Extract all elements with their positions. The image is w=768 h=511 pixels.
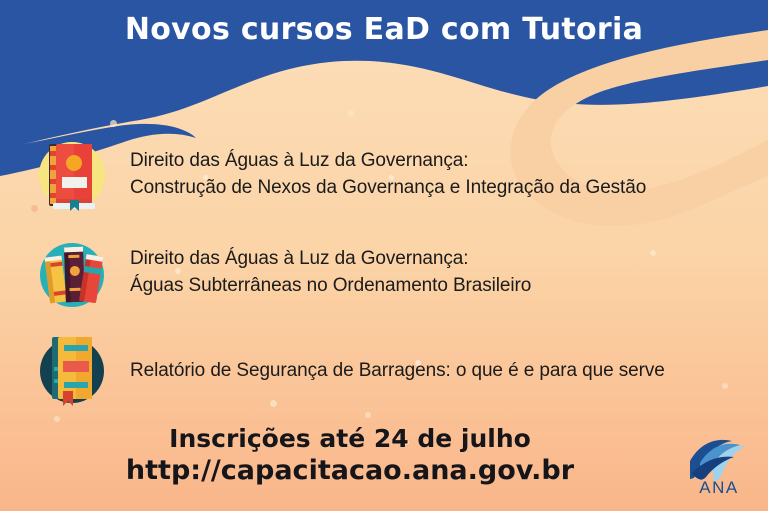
course-title: Direito das Águas à Luz da Governança: C…: [130, 148, 646, 202]
course-list: Direito das Águas à Luz da Governança: C…: [30, 126, 750, 420]
course-title-line-2: Águas Subterrâneas no Ordenamento Brasil…: [130, 273, 531, 300]
call-to-action: Inscrições até 24 de julho http://capaci…: [0, 424, 700, 487]
ana-logo-label: ANA: [699, 478, 738, 497]
closed-red-book-icon: [30, 133, 114, 217]
enrollment-url[interactable]: http://capacitacao.ana.gov.br: [0, 455, 700, 488]
course-title: Direito das Águas à Luz da Governança: Á…: [130, 246, 531, 300]
course-title-line-1: Direito das Águas à Luz da Governança:: [130, 148, 646, 175]
course-title-line-1: Relatório de Segurança de Barragens: o q…: [130, 358, 665, 385]
decorative-dot: [348, 110, 354, 116]
list-item: Relatório de Segurança de Barragens: o q…: [30, 322, 750, 420]
ana-logo: ANA: [686, 433, 752, 497]
list-item: Direito das Águas à Luz da Governança: C…: [30, 126, 750, 224]
course-title: Relatório de Segurança de Barragens: o q…: [130, 358, 665, 385]
three-books-icon: [30, 231, 114, 315]
course-title-line-2: Construção de Nexos da Governança e Inte…: [130, 175, 646, 202]
yellow-book-ribbon-icon: [30, 329, 114, 413]
list-item: Direito das Águas à Luz da Governança: Á…: [30, 224, 750, 322]
page-title: Novos cursos EaD com Tutoria: [0, 12, 768, 47]
course-title-line-1: Direito das Águas à Luz da Governança:: [130, 246, 531, 273]
enrollment-deadline: Inscrições até 24 de julho: [0, 424, 700, 455]
course-announcement-banner: Novos cursos EaD com Tutoria: [0, 0, 768, 511]
